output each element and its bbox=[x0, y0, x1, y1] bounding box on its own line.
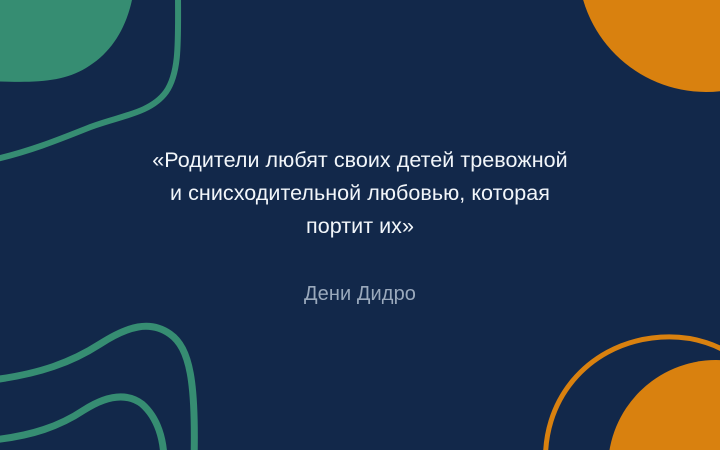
quote-text: «Родители любят своих детей тревожной и … bbox=[96, 144, 624, 243]
quote-author: Дени Дидро bbox=[96, 243, 624, 307]
quote-slide: «Родители любят своих детей тревожной и … bbox=[0, 0, 720, 450]
quote-content: «Родители любят своих детей тревожной и … bbox=[0, 0, 720, 450]
